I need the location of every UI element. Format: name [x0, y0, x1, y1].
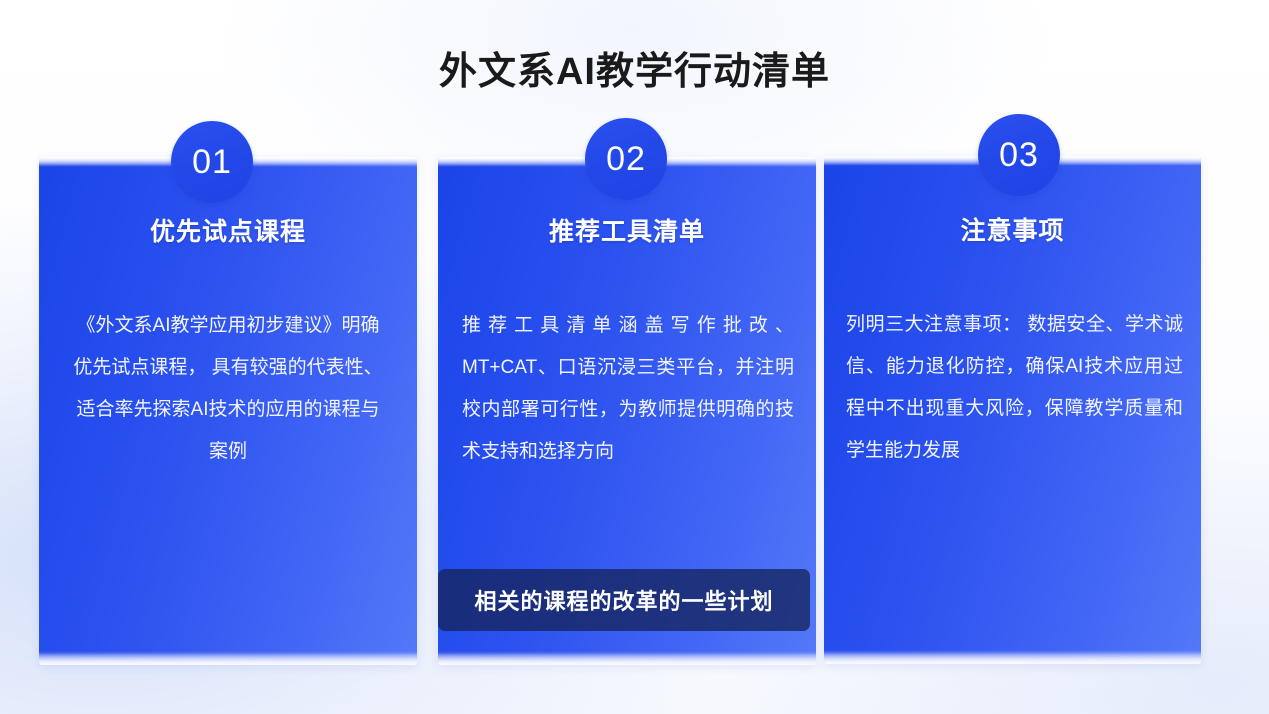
page-title: 外文系AI教学行动清单: [0, 50, 1269, 96]
caption-overlay[interactable]: 相关的课程的改革的一些计划: [438, 569, 810, 631]
card-title: 推荐工具清单: [438, 212, 816, 248]
slide-canvas: 外文系AI教学行动清单 优先试点课程 《外文系AI教学应用初步建议》明确优先试点…: [0, 0, 1269, 714]
card-content: 注意事项 列明三大注意事项： 数据安全、学术诚信、能力退化防控，确保AI技术应用…: [824, 156, 1201, 664]
card-number-badge-01: 01: [171, 121, 253, 203]
card-title: 注意事项: [824, 211, 1201, 247]
card-body-text: 列明三大注意事项： 数据安全、学术诚信、能力退化防控，确保AI技术应用过程中不出…: [846, 304, 1183, 472]
card-precautions[interactable]: 注意事项 列明三大注意事项： 数据安全、学术诚信、能力退化防控，确保AI技术应用…: [824, 156, 1201, 664]
card-number-badge-02: 02: [585, 118, 667, 200]
card-title: 优先试点课程: [39, 212, 417, 248]
card-body-text: 《外文系AI教学应用初步建议》明确优先试点课程， 具有较强的代表性、 适合率先探…: [69, 305, 387, 473]
card-priority-courses[interactable]: 优先试点课程 《外文系AI教学应用初步建议》明确优先试点课程， 具有较强的代表性…: [39, 157, 417, 665]
card-body-text: 推荐工具清单涵盖写作批改、MT+CAT、口语沉浸三类平台，并注明校内部署可行性，…: [462, 305, 794, 473]
card-number-badge-03: 03: [978, 114, 1060, 196]
card-content: 优先试点课程 《外文系AI教学应用初步建议》明确优先试点课程， 具有较强的代表性…: [39, 157, 417, 665]
